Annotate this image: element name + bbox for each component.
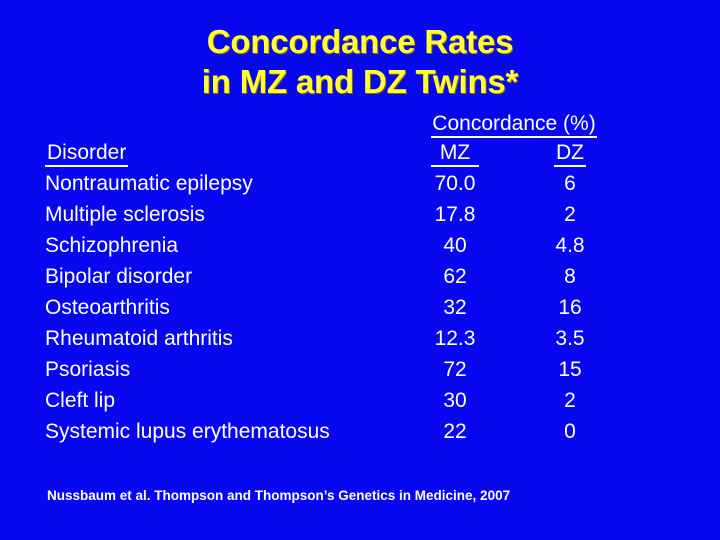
table-row: Cleft lip 30 2 [0, 389, 720, 420]
column-header-disorder: Disorder [45, 141, 128, 165]
cell-disorder: Nontraumatic epilepsy [45, 172, 253, 196]
concordance-table: Concordance (%) Disorder MZ DZ Nontrauma… [0, 112, 720, 451]
table-row: Rheumatoid arthritis 12.3 3.5 [0, 327, 720, 358]
cell-dz: 6 [515, 172, 625, 196]
cell-mz: 72 [400, 358, 510, 382]
column-header-dz: DZ [515, 141, 625, 165]
group-header-label: Concordance (%) [431, 112, 596, 138]
cell-disorder: Cleft lip [45, 389, 115, 413]
cell-disorder: Osteoarthritis [45, 296, 170, 320]
cell-disorder: Multiple sclerosis [45, 203, 205, 227]
slide-title: Concordance Rates in MZ and DZ Twins* [0, 22, 720, 102]
column-header-dz-label: DZ [554, 141, 586, 167]
cell-dz: 2 [515, 389, 625, 413]
table-row: Multiple sclerosis 17.8 2 [0, 203, 720, 234]
table-header-row: Disorder MZ DZ [0, 141, 720, 172]
cell-disorder: Bipolar disorder [45, 265, 192, 289]
cell-dz: 16 [515, 296, 625, 320]
citation-footer: Nussbaum et al. Thompson and Thompson’s … [47, 488, 510, 503]
table-row: Schizophrenia 40 4.8 [0, 234, 720, 265]
cell-disorder: Psoriasis [45, 358, 130, 382]
cell-dz: 4.8 [515, 234, 625, 258]
cell-mz: 12.3 [400, 327, 510, 351]
cell-mz: 62 [400, 265, 510, 289]
cell-dz: 15 [515, 358, 625, 382]
column-header-mz-label: MZ [431, 141, 479, 167]
column-header-disorder-label: Disorder [45, 141, 128, 167]
table-row: Nontraumatic epilepsy 70.0 6 [0, 172, 720, 203]
cell-dz: 8 [515, 265, 625, 289]
title-line-1: Concordance Rates [0, 22, 720, 62]
cell-dz: 2 [515, 203, 625, 227]
column-header-mz: MZ [400, 141, 510, 165]
cell-mz: 32 [400, 296, 510, 320]
table-row: Bipolar disorder 62 8 [0, 265, 720, 296]
cell-mz: 70.0 [400, 172, 510, 196]
cell-disorder: Systemic lupus erythematosus [45, 420, 330, 444]
title-line-2: in MZ and DZ Twins* [0, 62, 720, 102]
table-row: Osteoarthritis 32 16 [0, 296, 720, 327]
cell-disorder: Rheumatoid arthritis [45, 327, 233, 351]
cell-mz: 17.8 [400, 203, 510, 227]
cell-mz: 40 [400, 234, 510, 258]
cell-dz: 3.5 [515, 327, 625, 351]
slide-canvas: Concordance Rates in MZ and DZ Twins* Co… [0, 0, 720, 540]
cell-dz: 0 [515, 420, 625, 444]
cell-mz: 22 [400, 420, 510, 444]
table-row: Systemic lupus erythematosus 22 0 [0, 420, 720, 451]
group-header-row: Concordance (%) [0, 112, 720, 141]
table-row: Psoriasis 72 15 [0, 358, 720, 389]
cell-disorder: Schizophrenia [45, 234, 178, 258]
cell-mz: 30 [400, 389, 510, 413]
group-header-concordance: Concordance (%) [398, 112, 630, 136]
